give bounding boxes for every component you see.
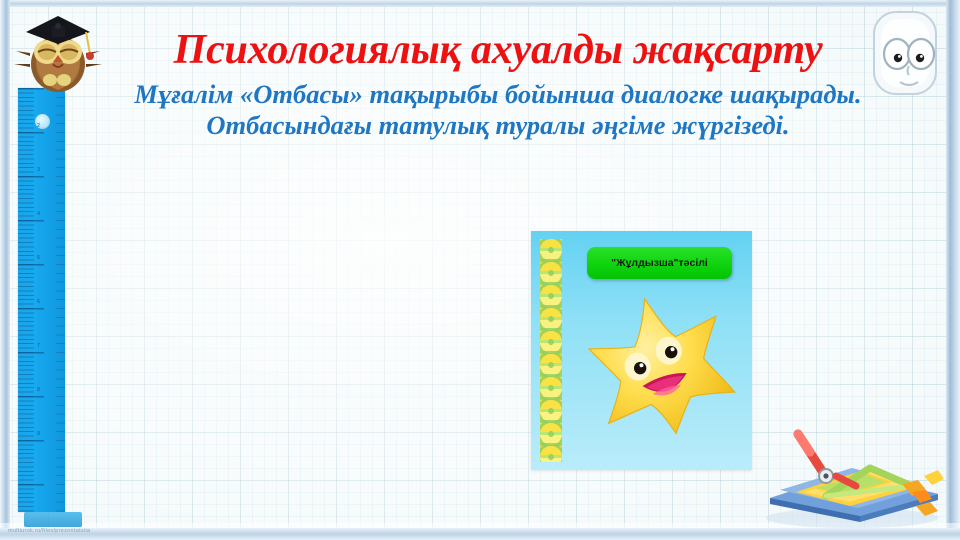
page-title: Психологиялық ахуалды жақсарту bbox=[118, 26, 878, 74]
vertical-ruler-icon: 2 3 4 5 6 7 8 9 bbox=[18, 88, 65, 512]
watermark: multiurok.ru/files/prezentatsiia bbox=[8, 512, 120, 534]
ruler-right-ticks bbox=[56, 88, 65, 512]
slide-text-block: Психологиялық ахуалды жақсарту Мұғалім «… bbox=[118, 26, 878, 141]
star-activity-image[interactable]: "Жұлдызша"тәсілі bbox=[531, 231, 752, 470]
slide-frame-top bbox=[0, 0, 960, 7]
watermark-logo bbox=[24, 512, 82, 527]
ruler-numbers: 2 3 4 5 6 7 8 9 bbox=[37, 104, 40, 456]
school-supplies-icon bbox=[752, 412, 952, 534]
activity-label-badge: "Жұлдызша"тәсілі bbox=[587, 247, 732, 279]
activity-label-text: "Жұлдызша"тәсілі bbox=[611, 257, 708, 269]
decorative-border-strip-dots bbox=[540, 239, 562, 462]
slide-body-text: Мұғалім «Отбасы» тақырыбы бойынша диалог… bbox=[118, 79, 878, 141]
owl-graduate-icon bbox=[6, 2, 110, 98]
presentation-slide: 2 3 4 5 6 7 8 9 bbox=[0, 0, 960, 540]
watermark-text: multiurok.ru/files/prezentatsiia bbox=[8, 528, 120, 534]
smiling-star-icon bbox=[586, 287, 736, 437]
